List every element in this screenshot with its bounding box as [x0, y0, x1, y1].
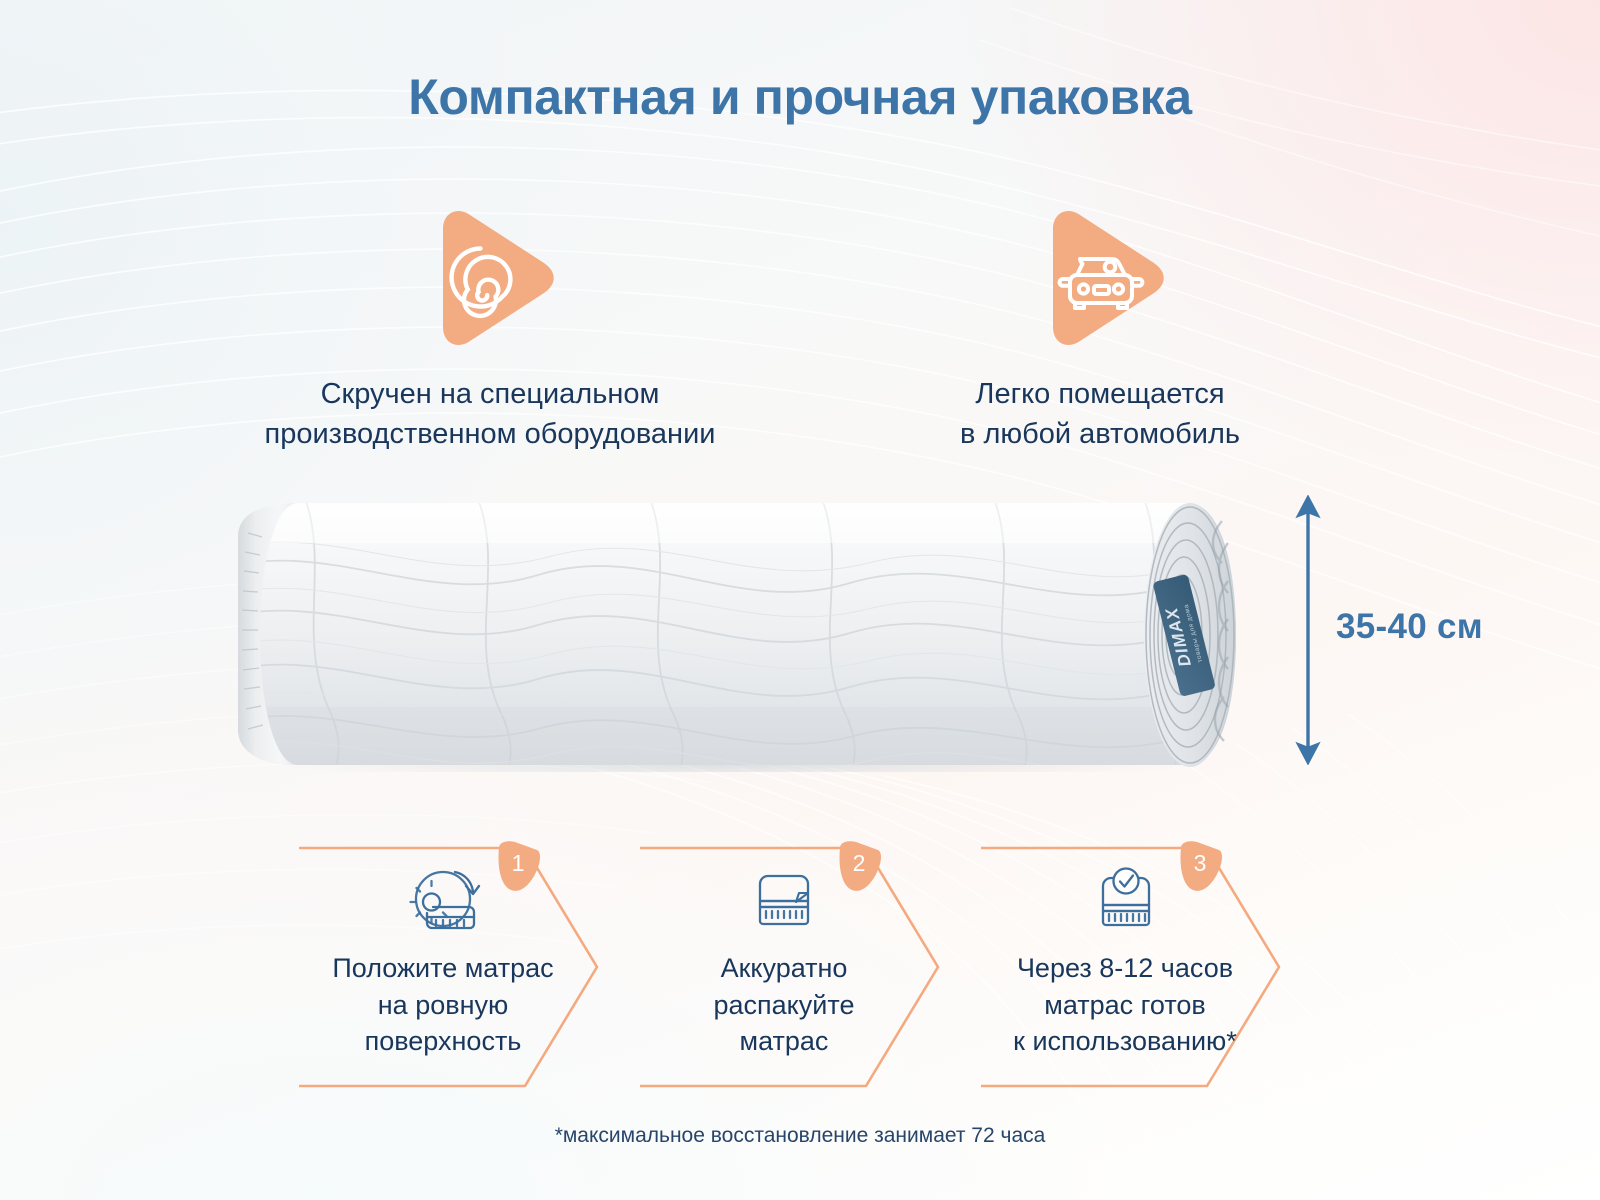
step-item-1: 1	[297, 838, 637, 1096]
feature-icon-badge-2	[860, 198, 1340, 358]
steps-row: 1	[0, 838, 1600, 1096]
footnote-text: *максимальное восстановление занимает 72…	[0, 1124, 1600, 1148]
rolling-mattress-icon	[405, 864, 481, 936]
feature-caption-2: Легко помещается в любой автомобиль	[860, 374, 1340, 454]
feature-block-car: Легко помещается в любой автомобиль	[860, 198, 1340, 454]
step-text-2: Аккуратно распакуйте матрас	[638, 950, 930, 1060]
step-icon-wrapper-2	[638, 864, 930, 934]
feature-caption-1: Скручен на специальном производственном …	[190, 374, 790, 454]
feature-block-rolled: Скручен на специальном производственном …	[190, 198, 790, 454]
mattress-ready-check-icon	[1090, 864, 1160, 934]
step-text-3: Через 8-12 часов матрас готов к использо…	[979, 950, 1271, 1060]
rolled-mattress-image: DIMAX товары для дома	[178, 497, 1283, 772]
step-icon-wrapper-3	[979, 864, 1271, 934]
unwrap-mattress-icon	[749, 864, 819, 934]
feature-icon-badge-1	[190, 198, 790, 358]
step-icon-wrapper-1	[297, 864, 589, 936]
step-text-1: Положите матрас на ровную поверхность	[297, 950, 589, 1060]
height-dimension-arrow	[1286, 495, 1330, 765]
step-item-2: 2 Аккуратно распакуйте матрас	[638, 838, 978, 1096]
infographic-canvas: Компактная и прочная упаковка Скручен на…	[0, 0, 1600, 1200]
step-item-3: 3 Через 8-12 часов матрас готов к исполь…	[979, 838, 1319, 1096]
dimension-label: 35-40 см	[1336, 607, 1483, 647]
page-title: Компактная и прочная упаковка	[0, 68, 1600, 126]
